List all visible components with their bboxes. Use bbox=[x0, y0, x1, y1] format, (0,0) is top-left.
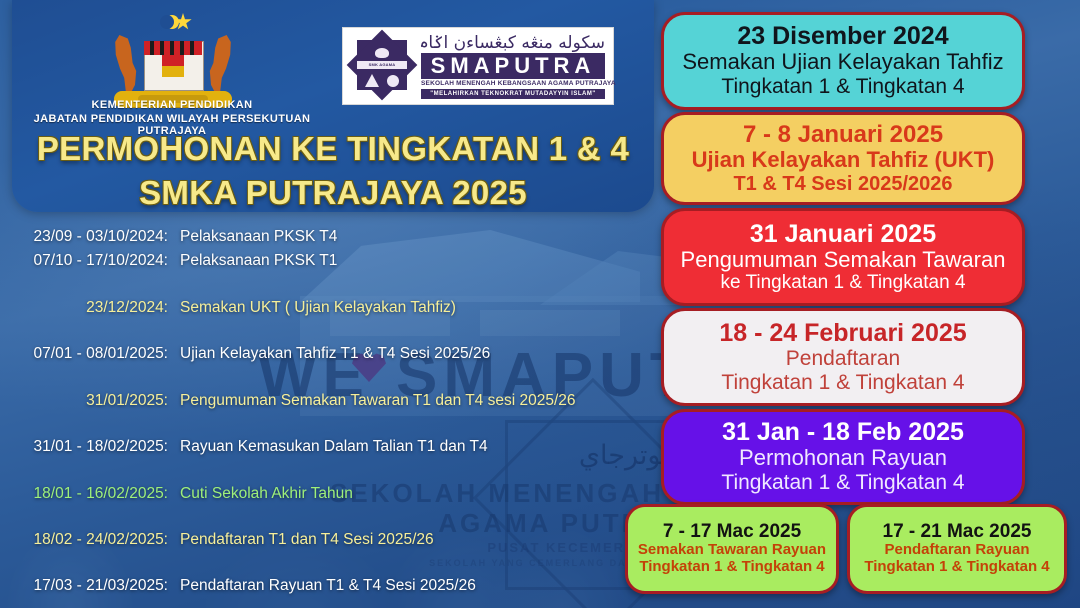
timeline-row: 18/01 - 16/02/2025:Cuti Sekolah Akhir Ta… bbox=[0, 485, 640, 503]
card-line2: Pendaftaran bbox=[786, 347, 900, 371]
milestone-card-pendaftaran[interactable]: 18 - 24 Februari 2025 Pendaftaran Tingka… bbox=[661, 308, 1025, 406]
timeline-row: 31/01 - 18/02/2025:Rayuan Kemasukan Dala… bbox=[0, 438, 640, 456]
card-line3: T1 & T4 Sesi 2025/2026 bbox=[733, 173, 952, 195]
timeline-date: 07/01 - 08/01/2025: bbox=[0, 345, 168, 363]
smaputra-badge-icon: SMK AGAMA PUTRAJAYA bbox=[351, 34, 413, 96]
badge-dome-icon bbox=[375, 48, 389, 58]
card-line3: Tingkatan 1 & Tingkatan 4 bbox=[639, 559, 824, 576]
timeline-row: 17/03 - 21/03/2025:Pendaftaran Rayuan T1… bbox=[0, 577, 640, 595]
ministry-line-1: KEMENTERIAN PENDIDIKAN bbox=[12, 99, 332, 111]
card-line3: Tingkatan 1 & Tingkatan 4 bbox=[721, 471, 964, 495]
card-line3: Tingkatan 1 & Tingkatan 4 bbox=[721, 75, 964, 99]
milestone-card-pengumuman[interactable]: 31 Januari 2025 Pengumuman Semakan Tawar… bbox=[661, 208, 1025, 306]
timeline-date: 23/12/2024: bbox=[0, 299, 168, 317]
card-date: 7 - 17 Mac 2025 bbox=[663, 522, 801, 543]
card-date: 23 Disember 2024 bbox=[737, 23, 948, 50]
card-line2: Ujian Kelayakan Tahfiz (UKT) bbox=[692, 148, 995, 173]
smaputra-logo: SMK AGAMA PUTRAJAYA سكوله منڠه كبڠساءن ا… bbox=[342, 27, 614, 105]
smaputra-wordmark: SMAPUTRA bbox=[421, 53, 605, 79]
milestone-card-ukt-semakan[interactable]: 23 Disember 2024 Semakan Ujian Kelayakan… bbox=[661, 12, 1025, 110]
timeline-row: 07/10 - 17/10/2024:Pelaksanaan PKSK T1 bbox=[0, 252, 640, 270]
page-title-line1: PERMOHONAN KE TINGKATAN 1 & 4 bbox=[12, 130, 654, 168]
card-date: 31 Jan - 18 Feb 2025 bbox=[722, 419, 964, 446]
milestone-card-rayuan[interactable]: 31 Jan - 18 Feb 2025 Permohonan Rayuan T… bbox=[661, 409, 1025, 505]
card-date: 31 Januari 2025 bbox=[750, 221, 936, 248]
jata-negara-icon bbox=[100, 13, 246, 105]
timeline-text: Pelaksanaan PKSK T4 bbox=[168, 228, 337, 246]
card-date: 17 - 21 Mac 2025 bbox=[883, 522, 1032, 543]
card-line2: Semakan Tawaran Rayuan bbox=[638, 542, 826, 559]
timeline-row: 18/02 - 24/02/2025:Pendaftaran T1 dan T4… bbox=[0, 531, 640, 549]
shield-top-bars bbox=[144, 41, 202, 55]
timeline-date: 17/03 - 21/03/2025: bbox=[0, 577, 168, 595]
star-icon bbox=[174, 13, 192, 31]
timeline-row: 07/01 - 08/01/2025:Ujian Kelayakan Tahfi… bbox=[0, 345, 640, 363]
timeline-text: Rayuan Kemasukan Dalam Talian T1 dan T4 bbox=[168, 438, 488, 456]
card-line2: Pengumuman Semakan Tawaran bbox=[681, 248, 1006, 273]
badge-ring-text: SMK AGAMA PUTRAJAYA bbox=[357, 61, 407, 69]
card-line3: ke Tingkatan 1 & Tingkatan 4 bbox=[720, 272, 965, 293]
card-line3: Tingkatan 1 & Tingkatan 4 bbox=[864, 559, 1049, 576]
smaputra-jawi-text: سكوله منڠه كبڠساءن اݢام ڤوترجاي bbox=[421, 32, 605, 54]
timeline-text: Pendaftaran T1 dan T4 Sesi 2025/26 bbox=[168, 531, 434, 549]
timeline-date: 31/01/2025: bbox=[0, 392, 168, 410]
card-date: 7 - 8 Januari 2025 bbox=[743, 122, 943, 148]
timeline-text: Semakan UKT ( Ujian Kelayakan Tahfiz) bbox=[168, 299, 456, 317]
timeline-row: 23/12/2024:Semakan UKT ( Ujian Kelayakan… bbox=[0, 299, 640, 317]
crescent-icon bbox=[160, 15, 174, 29]
timeline-text: Cuti Sekolah Akhir Tahun bbox=[168, 485, 353, 503]
milestone-card-pendaftaran-rayuan[interactable]: 17 - 21 Mac 2025 Pendaftaran Rayuan Ting… bbox=[847, 504, 1067, 594]
timeline-date: 18/01 - 16/02/2025: bbox=[0, 485, 168, 503]
timeline-date: 18/02 - 24/02/2025: bbox=[0, 531, 168, 549]
timeline-text: Pelaksanaan PKSK T1 bbox=[168, 252, 337, 270]
timeline-date: 31/01 - 18/02/2025: bbox=[0, 438, 168, 456]
milestone-card-ukt[interactable]: 7 - 8 Januari 2025 Ujian Kelayakan Tahfi… bbox=[661, 112, 1025, 205]
poster-canvas: WE SMAPUTRA سكوله منڠه كبڠساءن اݢام ڤوتر… bbox=[0, 0, 1080, 608]
timeline-text: Pendaftaran Rayuan T1 & T4 Sesi 2025/26 bbox=[168, 577, 476, 595]
tiger-left-icon bbox=[114, 35, 144, 93]
timeline-row: 31/01/2025:Pengumuman Semakan Tawaran T1… bbox=[0, 392, 640, 410]
header-panel: KEMENTERIAN PENDIDIKAN JABATAN PENDIDIKA… bbox=[12, 0, 654, 212]
card-line2: Pendaftaran Rayuan bbox=[884, 542, 1029, 559]
timeline-text: Pengumuman Semakan Tawaran T1 dan T4 ses… bbox=[168, 392, 576, 410]
milestone-card-semakan-rayuan[interactable]: 7 - 17 Mac 2025 Semakan Tawaran Rayuan T… bbox=[625, 504, 839, 594]
timeline-date: 07/10 - 17/10/2024: bbox=[0, 252, 168, 270]
timeline-date: 23/09 - 03/10/2024: bbox=[0, 228, 168, 246]
smaputra-motto: "MELAHIRKAN TEKNOKRAT MUTADAYYIN ISLAM" bbox=[421, 89, 605, 99]
tiger-right-icon bbox=[202, 35, 232, 93]
smaputra-subtitle: SEKOLAH MENENGAH KEBANGSAAN AGAMA PUTRAJ… bbox=[421, 80, 605, 87]
timeline-row: 23/09 - 03/10/2024:Pelaksanaan PKSK T4 bbox=[0, 228, 640, 246]
page-title-line2: SMKA PUTRAJAYA 2025 bbox=[12, 174, 654, 212]
card-line3: Tingkatan 1 & Tingkatan 4 bbox=[721, 371, 964, 395]
card-line2: Semakan Ujian Kelayakan Tahfiz bbox=[682, 50, 1003, 75]
card-date: 18 - 24 Februari 2025 bbox=[719, 320, 966, 347]
badge-circle-icon bbox=[387, 75, 399, 87]
card-line2: Permohonan Rayuan bbox=[739, 446, 947, 471]
shield-center-top bbox=[162, 55, 184, 66]
timeline-text: Ujian Kelayakan Tahfiz T1 & T4 Sesi 2025… bbox=[168, 345, 490, 363]
